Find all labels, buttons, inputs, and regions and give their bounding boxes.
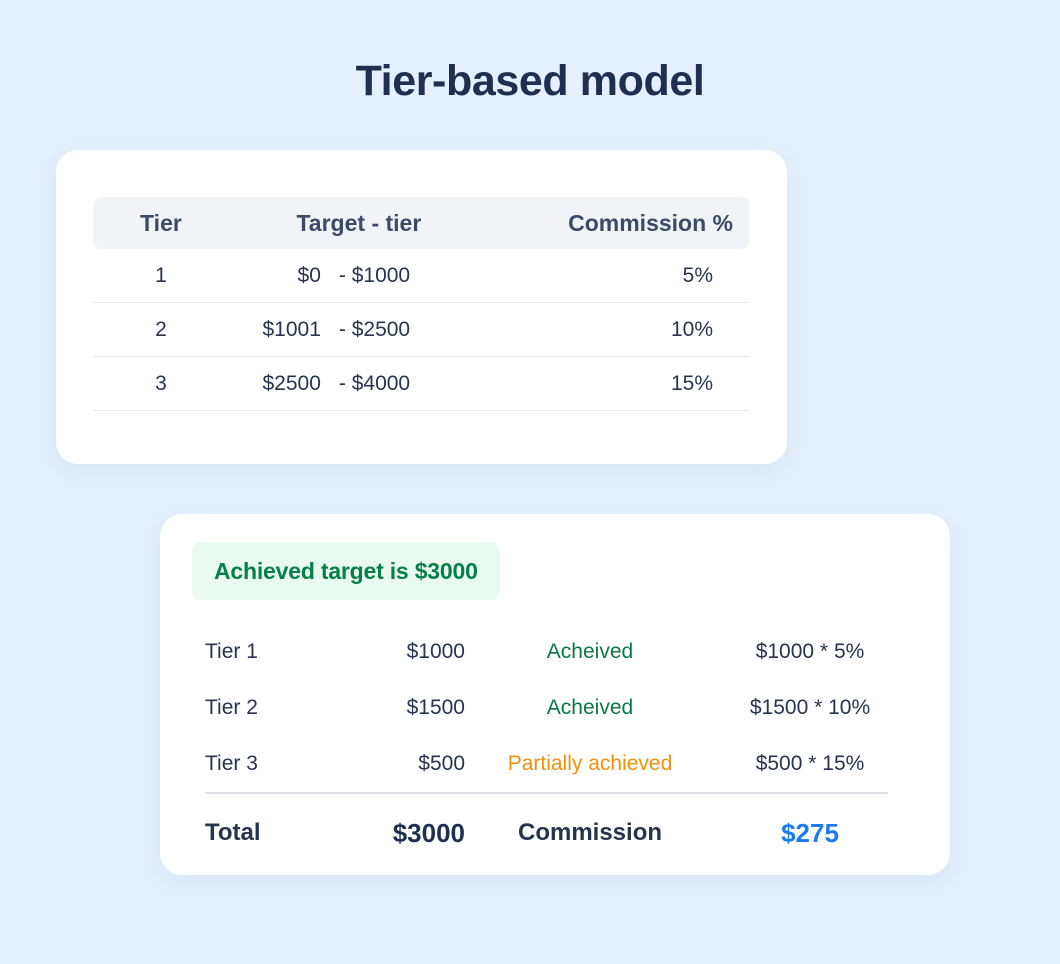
cell-commission: 10% bbox=[489, 303, 749, 357]
calc-amount: $1000 bbox=[317, 640, 465, 664]
total-amount: $3000 bbox=[317, 818, 465, 849]
cell-tier: 1 bbox=[93, 249, 229, 303]
tier-table-card: Tier Target - tier Commission % 1 $0 - $… bbox=[56, 150, 787, 464]
list-item: Tier 2 $1500 Acheived $1500 * 10% bbox=[205, 680, 905, 736]
calc-tier-label: Tier 3 bbox=[205, 752, 317, 776]
page-title: Tier-based model bbox=[0, 57, 1060, 106]
table-row: 2 $1001 - $2500 10% bbox=[93, 303, 749, 357]
table-row: 3 $2500 - $4000 15% bbox=[93, 357, 749, 411]
cell-target: $0 - $1000 bbox=[229, 249, 489, 303]
calc-formula: $500 * 15% bbox=[715, 752, 905, 776]
cell-target-from: $0 bbox=[229, 264, 321, 288]
tier-table-header-row: Tier Target - tier Commission % bbox=[93, 197, 749, 249]
calc-tier-label: Tier 1 bbox=[205, 640, 317, 664]
list-item: Tier 1 $1000 Acheived $1000 * 5% bbox=[205, 624, 905, 680]
column-header-target: Target - tier bbox=[229, 197, 489, 249]
calc-tier-label: Tier 2 bbox=[205, 696, 317, 720]
total-row: Total $3000 Commission $275 bbox=[205, 806, 905, 860]
column-header-tier: Tier bbox=[93, 197, 229, 249]
calc-formula: $1500 * 10% bbox=[715, 696, 905, 720]
achieved-target-banner: Achieved target is $3000 bbox=[192, 542, 500, 600]
cell-target: $2500 - $4000 bbox=[229, 357, 489, 411]
cell-target-to: - $4000 bbox=[321, 372, 489, 396]
cell-target-from: $1001 bbox=[229, 318, 321, 342]
commission-value: $275 bbox=[715, 818, 905, 849]
cell-target-from: $2500 bbox=[229, 372, 321, 396]
cell-commission: 15% bbox=[489, 357, 749, 411]
status-badge: Acheived bbox=[465, 696, 715, 720]
calculation-card: Achieved target is $3000 Tier 1 $1000 Ac… bbox=[160, 514, 950, 875]
calc-amount: $500 bbox=[317, 752, 465, 776]
column-header-commission: Commission % bbox=[489, 197, 749, 249]
list-item: Tier 3 $500 Partially achieved $500 * 15… bbox=[205, 736, 905, 792]
table-row: 1 $0 - $1000 5% bbox=[93, 249, 749, 303]
status-badge: Partially achieved bbox=[465, 752, 715, 776]
cell-tier: 2 bbox=[93, 303, 229, 357]
cell-target: $1001 - $2500 bbox=[229, 303, 489, 357]
tier-table: Tier Target - tier Commission % 1 $0 - $… bbox=[93, 197, 749, 411]
total-divider bbox=[205, 792, 888, 794]
status-badge: Acheived bbox=[465, 640, 715, 664]
commission-label: Commission bbox=[465, 819, 715, 847]
cell-target-to: - $1000 bbox=[321, 264, 489, 288]
total-label: Total bbox=[205, 819, 317, 847]
cell-tier: 3 bbox=[93, 357, 229, 411]
calc-amount: $1500 bbox=[317, 696, 465, 720]
tier-table-head: Tier Target - tier Commission % bbox=[93, 197, 749, 249]
calculation-rows: Tier 1 $1000 Acheived $1000 * 5% Tier 2 … bbox=[205, 624, 905, 792]
cell-commission: 5% bbox=[489, 249, 749, 303]
cell-target-to: - $2500 bbox=[321, 318, 489, 342]
tier-table-body: 1 $0 - $1000 5% 2 $1001 - $2500 10 bbox=[93, 249, 749, 411]
calc-formula: $1000 * 5% bbox=[715, 640, 905, 664]
